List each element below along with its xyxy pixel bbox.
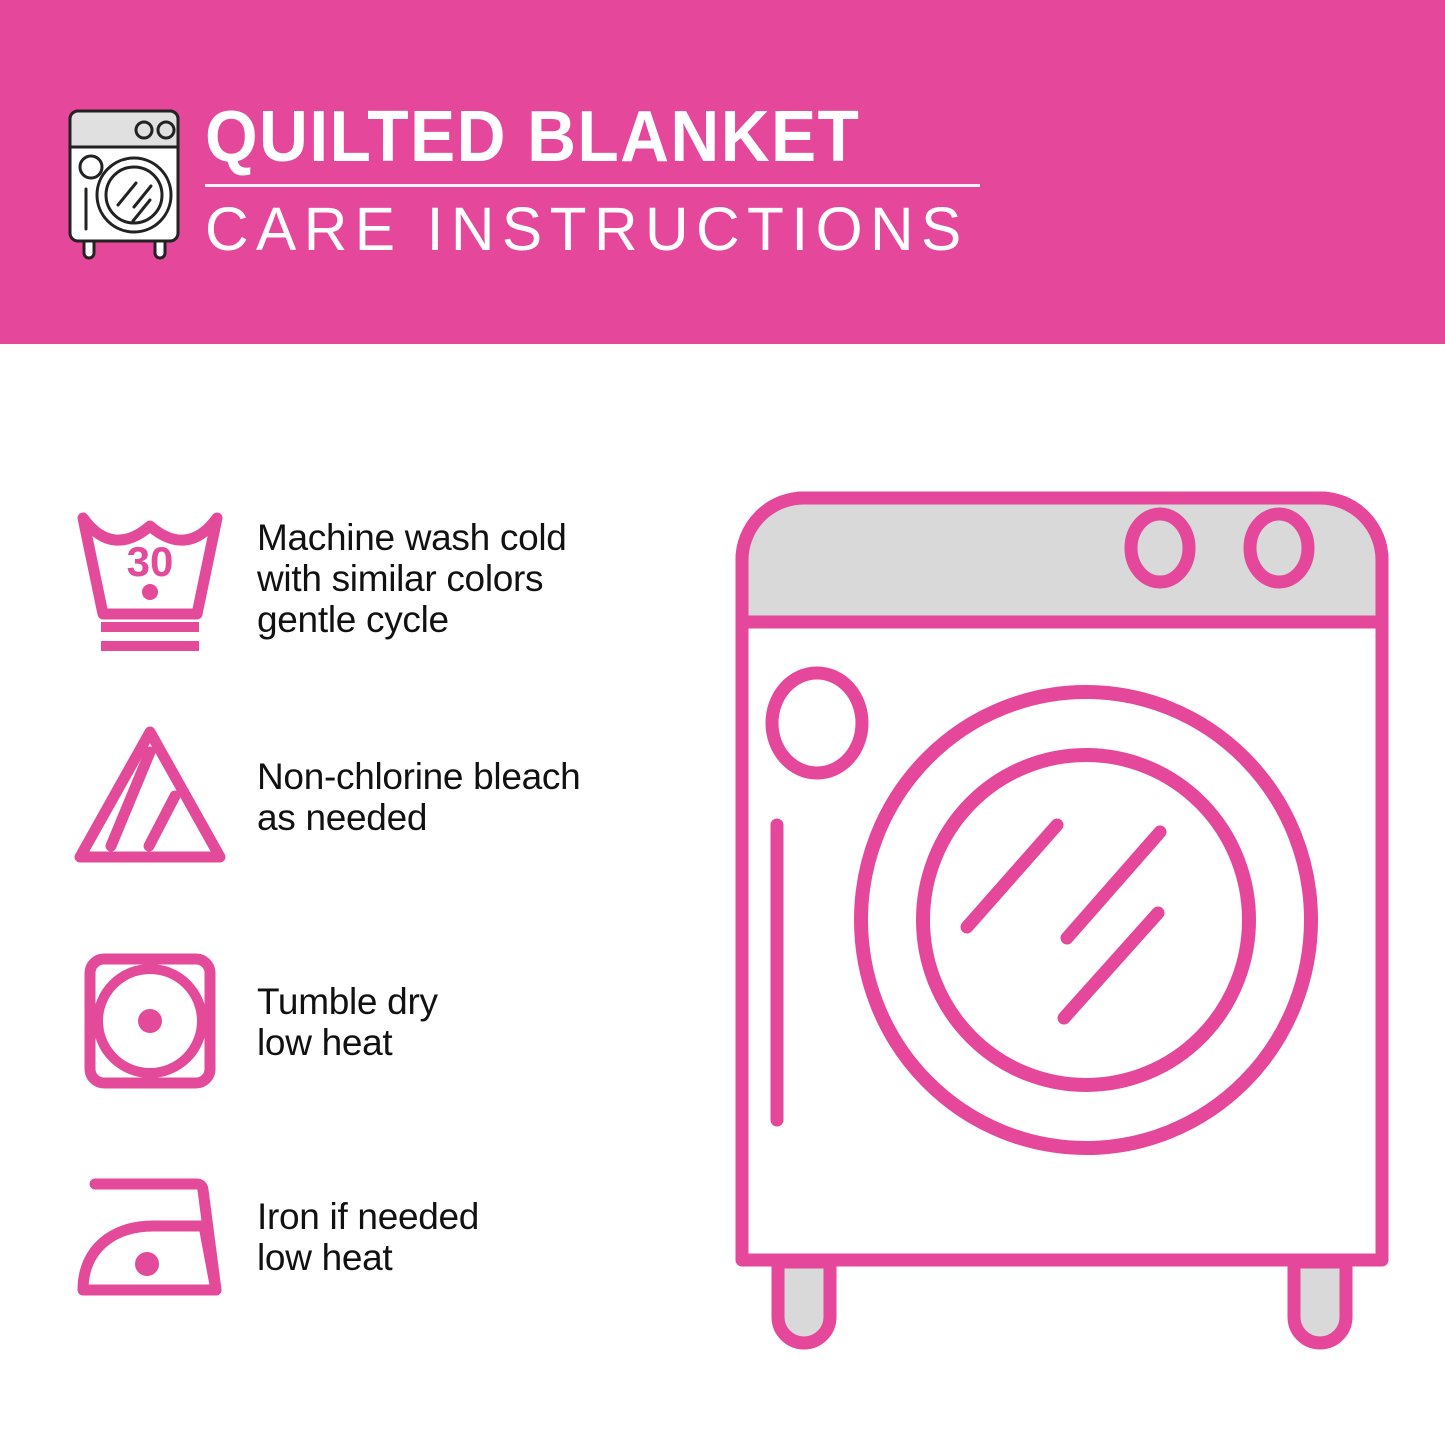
iron-icon — [65, 1154, 235, 1319]
care-label-bleach: Non-chlorine bleach as needed — [257, 756, 580, 838]
care-instructions-list: 30 Machine wash cold with similar colors… — [0, 344, 700, 1445]
header-divider — [205, 184, 980, 187]
leg-left — [778, 1262, 830, 1343]
care-label-tumble-dry: Tumble dry low heat — [257, 981, 438, 1063]
care-row-iron: Iron if needed low heat — [0, 1154, 700, 1319]
wash-temperature-value: 30 — [127, 538, 174, 585]
header-banner: QUILTED BLANKET CARE INSTRUCTIONS — [0, 0, 1445, 344]
care-row-tumble-dry: Tumble dry low heat — [0, 939, 700, 1104]
care-label-iron: Iron if needed low heat — [257, 1196, 479, 1278]
care-row-machine-wash: 30 Machine wash cold with similar colors… — [0, 496, 700, 661]
leg-right — [1294, 1262, 1346, 1343]
bleach-triangle-icon — [65, 714, 235, 879]
wash-tub-30-icon: 30 — [65, 496, 235, 661]
tumble-dry-icon — [65, 939, 235, 1104]
front-load-washing-machine-illustration — [712, 470, 1412, 1350]
care-row-bleach: Non-chlorine bleach as needed — [0, 714, 700, 879]
header-text-block: QUILTED BLANKET CARE INSTRUCTIONS — [205, 98, 995, 261]
care-instructions-infographic: QUILTED BLANKET CARE INSTRUCTIONS 30 — [0, 0, 1445, 1445]
care-label-machine-wash: Machine wash cold with similar colors ge… — [257, 517, 567, 640]
page-subtitle: CARE INSTRUCTIONS — [205, 197, 987, 261]
page-title: QUILTED BLANKET — [205, 98, 948, 176]
washing-machine-icon — [60, 103, 192, 261]
